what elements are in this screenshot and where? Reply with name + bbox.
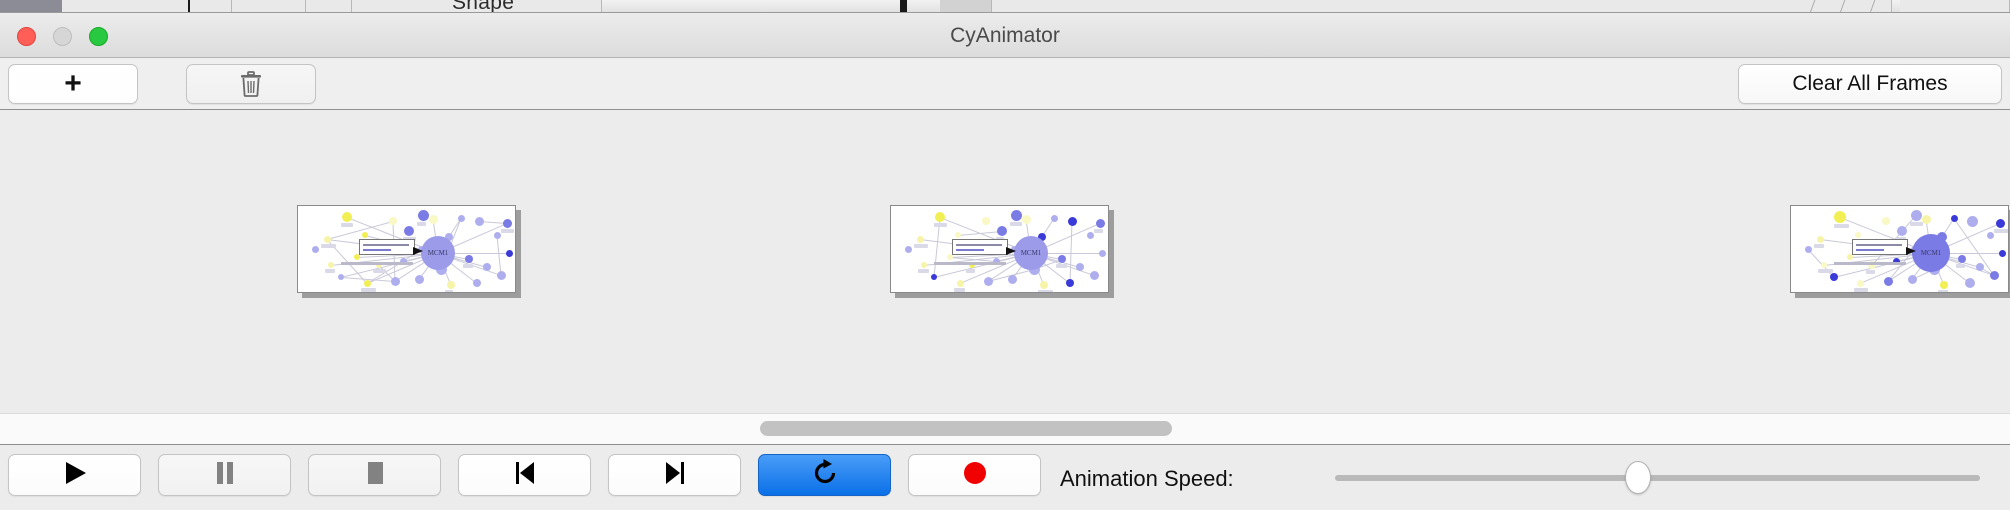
- pause-button[interactable]: [158, 454, 291, 496]
- hub-node: MCM1: [1912, 234, 1950, 272]
- node-label: [361, 288, 376, 292]
- graph-node: [984, 277, 993, 286]
- graph-node: [1066, 279, 1074, 287]
- node-label: [1056, 264, 1067, 268]
- thumbnail-plate: MCM1: [297, 205, 516, 293]
- graph-node: [955, 232, 961, 238]
- annotation-line: [1856, 244, 1902, 246]
- stop-icon: [363, 460, 387, 491]
- record-button[interactable]: [908, 454, 1041, 496]
- animation-speed-label: Animation Speed:: [1060, 466, 1234, 492]
- node-label: [445, 290, 453, 293]
- record-icon: [963, 461, 987, 490]
- graph-caption: [1834, 262, 1906, 265]
- delete-frame-button[interactable]: [186, 64, 316, 104]
- graph-node: [324, 236, 331, 243]
- animation-speed-slider[interactable]: [1335, 475, 1980, 481]
- graph-node: [1087, 232, 1094, 239]
- graph-node: [1011, 210, 1022, 221]
- node-label: [1834, 224, 1849, 228]
- window-title: CyAnimator: [0, 24, 2010, 48]
- graph-node: [1999, 250, 2006, 257]
- node-label: [1956, 264, 1965, 268]
- graph-node: [931, 274, 937, 280]
- annotation-line: [363, 249, 391, 251]
- timeline-horizontal-scrollbar[interactable]: [0, 413, 2010, 445]
- annotation-pointer: [1006, 247, 1016, 255]
- graph-node: [458, 215, 465, 222]
- clear-all-frames-label: Clear All Frames: [1792, 72, 1947, 96]
- network-graph: MCM1: [1794, 209, 2005, 289]
- stop-button[interactable]: [308, 454, 441, 496]
- graph-edge: [497, 235, 502, 275]
- hub-node-label: MCM1: [428, 249, 449, 257]
- node-label: [463, 264, 473, 268]
- skip-to-start-button[interactable]: [458, 454, 591, 496]
- skip-to-end-button[interactable]: [608, 454, 741, 496]
- node-label: [1010, 222, 1022, 226]
- graph-node: [1834, 211, 1846, 223]
- background-window-strip: Shape: [0, 0, 2010, 13]
- node-label: [1910, 222, 1923, 226]
- node-label: [1938, 290, 1948, 293]
- skip-forward-icon: [662, 460, 688, 491]
- graph-node: [997, 226, 1007, 236]
- slider-thumb[interactable]: [1625, 461, 1651, 494]
- graph-node: [483, 263, 491, 271]
- node-label: [1818, 269, 1833, 273]
- graph-node: [312, 246, 319, 253]
- node-label: [501, 229, 514, 233]
- graph-node: [1022, 215, 1031, 224]
- pause-icon: [213, 460, 237, 491]
- node-label: [954, 288, 965, 292]
- graph-node: [1911, 210, 1922, 221]
- graph-node: [475, 217, 484, 226]
- node-label: [1866, 270, 1875, 274]
- graph-node: [1058, 255, 1066, 263]
- node-label: [1854, 288, 1868, 292]
- graph-node: [338, 274, 344, 280]
- graph-node: [1996, 219, 2005, 228]
- slider-track: [1335, 475, 1980, 481]
- node-label: [1994, 229, 2009, 233]
- hub-node: MCM1: [1014, 236, 1048, 270]
- loop-icon: [811, 459, 839, 492]
- graph-node: [1805, 246, 1812, 253]
- graph-node: [905, 246, 912, 253]
- graph-annotation-box: [359, 239, 415, 255]
- annotation-line: [956, 249, 984, 251]
- thumbnail-plate: MCM1: [890, 205, 1109, 293]
- annotation-pointer: [413, 247, 423, 255]
- annotation-line: [363, 244, 409, 246]
- hub-node-label: MCM1: [1921, 249, 1942, 257]
- graph-node: [1040, 281, 1048, 289]
- graph-node: [1951, 215, 1958, 222]
- graph-node: [1821, 262, 1827, 268]
- graph-annotation-box: [952, 239, 1008, 255]
- graph-node: [473, 279, 481, 287]
- graph-node: [429, 215, 438, 224]
- graph-node: [364, 280, 371, 287]
- graph-node: [1940, 281, 1948, 289]
- graph-node: [921, 262, 927, 268]
- network-graph: MCM1: [894, 209, 1105, 289]
- graph-node: [1976, 263, 1984, 271]
- graph-node: [497, 271, 506, 280]
- graph-node: [1096, 219, 1105, 228]
- play-icon: [62, 460, 88, 491]
- graph-node: [342, 212, 352, 222]
- add-frame-button[interactable]: +: [8, 64, 138, 104]
- graph-node: [917, 236, 924, 243]
- plus-icon: +: [64, 69, 82, 99]
- graph-node: [1967, 216, 1978, 227]
- hub-node: MCM1: [421, 236, 455, 270]
- annotation-line: [956, 244, 1002, 246]
- node-label: [1094, 229, 1103, 233]
- graph-node: [1990, 271, 1999, 280]
- graph-node: [415, 275, 424, 284]
- graph-node: [506, 250, 513, 257]
- graph-node: [391, 277, 400, 286]
- node-label: [1814, 244, 1824, 248]
- graph-node: [1090, 271, 1099, 280]
- graph-node: [465, 255, 473, 263]
- graph-node: [1008, 275, 1017, 284]
- node-label: [918, 269, 929, 273]
- graph-node: [328, 262, 334, 268]
- graph-node: [1882, 217, 1890, 225]
- skip-back-icon: [512, 460, 538, 491]
- graph-node: [1068, 217, 1077, 226]
- graph-node: [404, 226, 414, 236]
- annotation-pointer: [1906, 247, 1916, 255]
- graph-node: [1987, 232, 1994, 239]
- node-label: [914, 244, 928, 248]
- graph-node: [1817, 236, 1824, 243]
- timeline-panel[interactable]: MCM1MCM1MCM1 2131415161718 Seconds: [0, 110, 2010, 410]
- graph-node: [1884, 277, 1893, 286]
- graph-node: [503, 219, 512, 228]
- annotation-line: [1856, 249, 1884, 251]
- node-label: [325, 269, 335, 273]
- graph-node: [1855, 232, 1861, 238]
- graph-node: [1965, 278, 1975, 288]
- graph-node: [957, 280, 964, 287]
- graph-node: [1908, 275, 1917, 284]
- title-bar: CyAnimator: [0, 13, 2010, 58]
- graph-node: [935, 212, 945, 222]
- hub-node-label: MCM1: [1021, 249, 1042, 257]
- play-button[interactable]: [8, 454, 141, 496]
- clear-all-frames-button[interactable]: Clear All Frames: [1738, 64, 2002, 104]
- network-graph: MCM1: [301, 209, 512, 289]
- trash-icon: [240, 71, 262, 97]
- graph-node: [362, 232, 368, 238]
- node-label: [341, 223, 353, 227]
- node-label: [321, 244, 336, 248]
- graph-node: [1830, 273, 1838, 281]
- graph-node: [389, 217, 397, 225]
- graph-node: [1076, 263, 1084, 271]
- graph-node: [1897, 226, 1907, 236]
- graph-node: [494, 232, 501, 239]
- graph-node: [418, 210, 429, 221]
- graph-node: [1099, 250, 1106, 257]
- graph-caption: [341, 262, 413, 265]
- node-label: [1038, 290, 1053, 293]
- graph-edge: [958, 231, 1002, 236]
- graph-node: [1857, 280, 1864, 287]
- node-label: [934, 223, 947, 227]
- graph-node: [447, 281, 455, 289]
- graph-node: [1051, 215, 1058, 222]
- graph-node: [1958, 255, 1966, 263]
- node-label: [417, 222, 426, 226]
- scrollbar-thumb[interactable]: [760, 421, 1172, 436]
- loop-button[interactable]: [758, 454, 891, 496]
- graph-caption: [934, 262, 1006, 265]
- background-window-label: Shape: [452, 0, 514, 13]
- graph-annotation-box: [1852, 239, 1908, 255]
- node-label: [966, 269, 975, 273]
- node-label: [373, 269, 386, 273]
- thumbnail-plate: MCM1: [1790, 205, 2009, 293]
- graph-node: [982, 217, 990, 225]
- toolbar: + Clear All Frames: [0, 58, 2010, 110]
- playback-control-bar: Animation Speed:: [0, 445, 2010, 510]
